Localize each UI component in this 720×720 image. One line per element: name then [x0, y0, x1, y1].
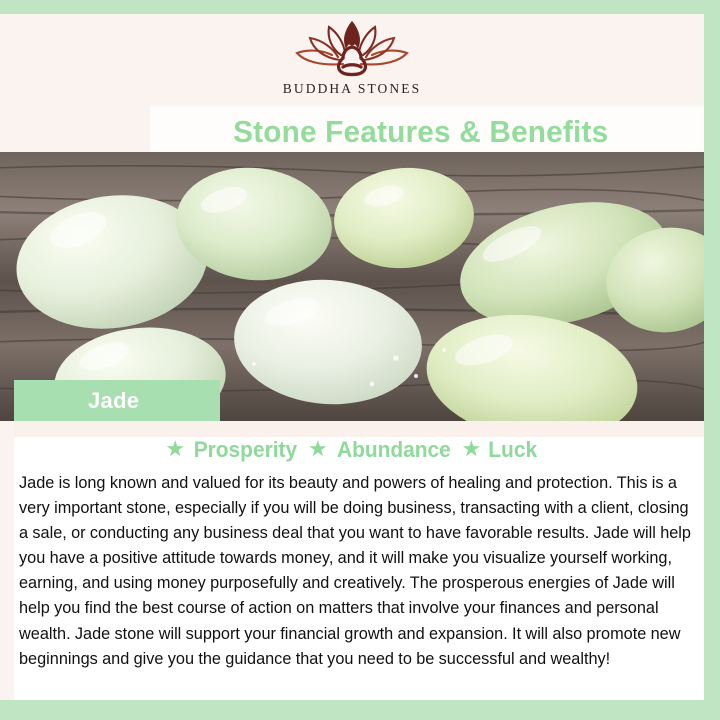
benefit-item: ★ Abundance — [308, 437, 454, 463]
benefit-label: Abundance — [337, 437, 451, 463]
stone-name-bar: Jade — [14, 380, 220, 421]
benefit-item: ★ Prosperity — [165, 437, 300, 463]
star-icon: ★ — [308, 438, 328, 460]
info-card: BUDDHA STONES Stone Features & Benefits — [0, 14, 704, 700]
benefits-row: ★ Prosperity ★ Abundance ★ Luck — [14, 437, 704, 463]
brand-header: BUDDHA STONES — [0, 14, 704, 108]
brand-name: BUDDHA STONES — [283, 81, 421, 97]
title-banner: Stone Features & Benefits — [150, 106, 704, 158]
benefit-label: Luck — [489, 437, 538, 463]
stone-description-text: Jade is long known and valued for its be… — [19, 471, 695, 672]
page-title: Stone Features & Benefits — [233, 114, 622, 150]
outer-green-frame: BUDDHA STONES Stone Features & Benefits — [0, 0, 720, 720]
description-panel: ★ Prosperity ★ Abundance ★ Luck Jade is … — [14, 421, 704, 700]
benefit-item: ★ Luck — [462, 437, 539, 463]
benefit-label: Prosperity — [194, 437, 297, 463]
star-icon: ★ — [462, 438, 482, 460]
lotus-meditation-icon — [291, 18, 413, 80]
stone-name-label: Jade — [14, 388, 139, 414]
panel-top-strip — [14, 421, 704, 437]
star-icon: ★ — [165, 438, 185, 460]
